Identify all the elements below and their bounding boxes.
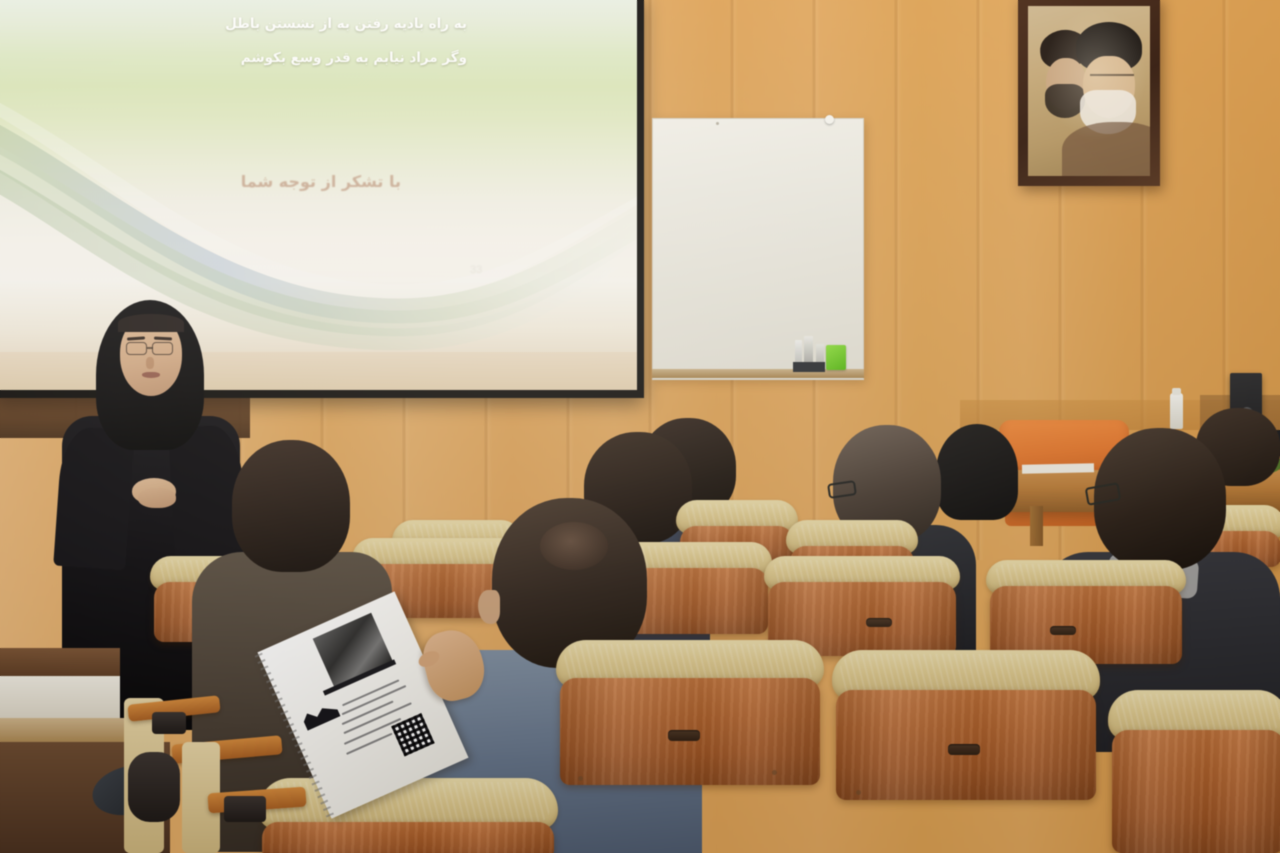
- whiteboard-pin: [716, 122, 719, 125]
- presenter-nose: [146, 357, 154, 369]
- audience-center-ear: [478, 590, 500, 624]
- lower-wall-dark: [0, 648, 120, 678]
- seat-wood-grain: [1112, 730, 1280, 853]
- presenter-hair: [118, 314, 184, 332]
- slide-number: 33: [470, 264, 482, 276]
- presenter-hands-overlap: [138, 488, 176, 508]
- seat-backrest: [560, 678, 820, 785]
- armrest-cushion-left: [128, 752, 180, 822]
- marker-caps: [793, 362, 825, 372]
- seat-row2-e[interactable]: [986, 560, 1186, 664]
- seat-handle[interactable]: [866, 618, 892, 627]
- seat-wood-grain: [262, 822, 554, 853]
- water-bottle-cap: [1172, 388, 1181, 395]
- presenter-glasses-right-lens: [152, 342, 173, 355]
- presenter-glasses-bridge: [147, 347, 153, 349]
- seat-backrest: [262, 822, 554, 853]
- audience-center-bald-spot: [540, 522, 608, 570]
- seat-backrest: [1112, 730, 1280, 853]
- paper-on-table: [1022, 463, 1094, 474]
- seat-row1-b[interactable]: [556, 640, 824, 785]
- whiteboard-clip: [825, 115, 834, 124]
- back-table-leg: [1030, 506, 1043, 546]
- portrait-image: [1028, 6, 1150, 176]
- water-bottle: [1170, 393, 1183, 429]
- whiteboard-marker-tray: [652, 369, 864, 378]
- step-tread: [0, 718, 128, 744]
- seat-handle[interactable]: [1050, 626, 1076, 635]
- armrest-cap-left-front: [224, 796, 266, 822]
- presenter-glasses-left-lens: [126, 342, 147, 355]
- audience-member-front-left: [232, 440, 350, 572]
- seat-row1-c[interactable]: [832, 650, 1100, 800]
- armrest-cap-left: [152, 712, 186, 734]
- framed-leader-portrait: [1018, 0, 1160, 186]
- seat-screw: [856, 790, 861, 795]
- seat-backrest: [836, 690, 1096, 800]
- seat-screw: [772, 770, 777, 775]
- audience-member-chador: [936, 424, 1018, 520]
- slide-poem-line-1: به راه بادیه رفتن به از نشستن باطل: [225, 16, 467, 32]
- seat-screw: [578, 776, 583, 781]
- seat-row1-d[interactable]: [1108, 690, 1280, 853]
- portrait-glow: [1028, 6, 1150, 176]
- handout-logo: [301, 701, 340, 730]
- eraser-green: [826, 345, 846, 370]
- seminar-room-photo: به راه بادیه رفتن به از نشستن باطل وگر م…: [0, 0, 1280, 853]
- whiteboard: [652, 118, 864, 380]
- handout-text-line: [346, 733, 392, 755]
- presenter-mouth: [142, 372, 160, 378]
- slide-poem-line-2: وگر مراد نیابم به قدر وسع بکوشم: [241, 50, 467, 66]
- seat-handle[interactable]: [948, 744, 980, 755]
- step-riser: [0, 676, 120, 720]
- slide-thanks-text: با تشکر از توجه شما: [241, 172, 401, 191]
- seat-handle[interactable]: [668, 730, 700, 741]
